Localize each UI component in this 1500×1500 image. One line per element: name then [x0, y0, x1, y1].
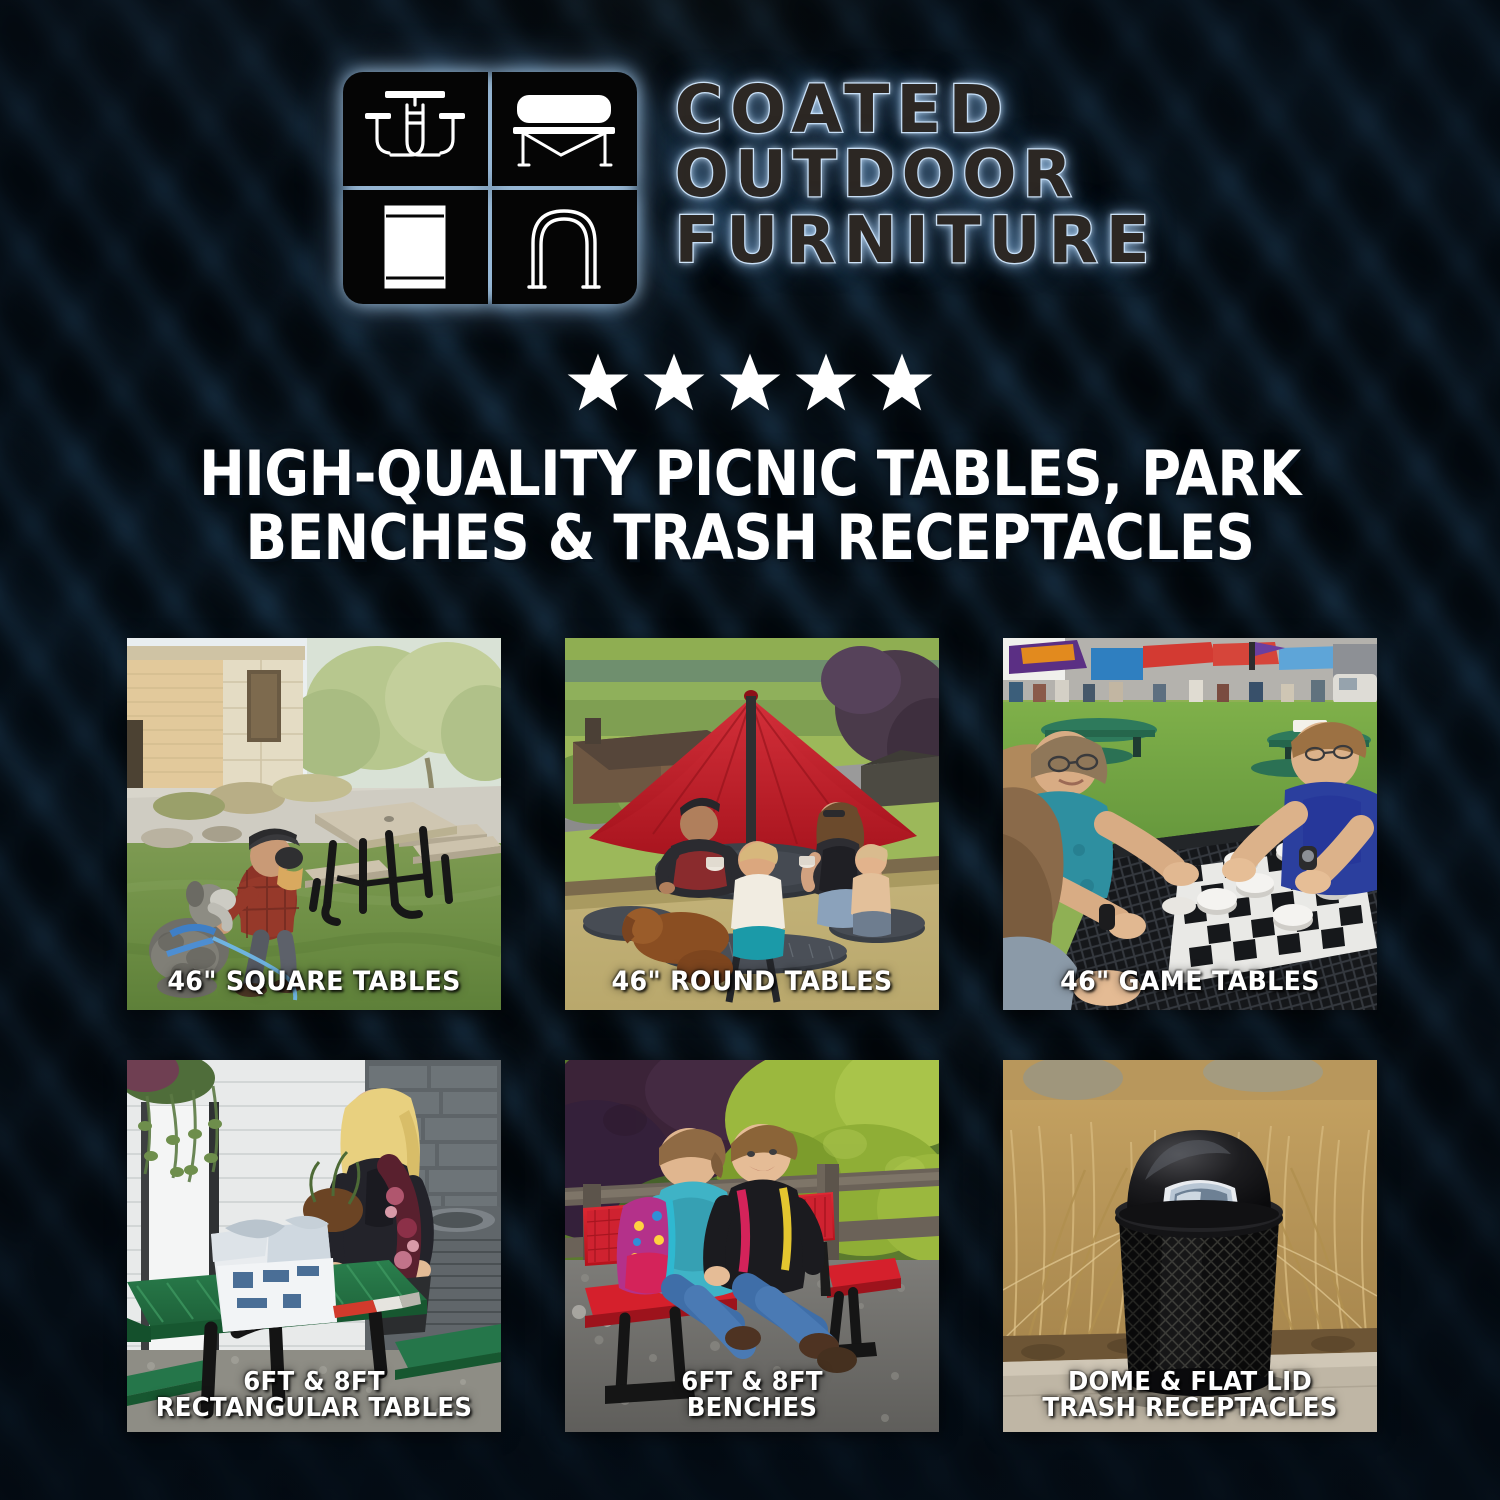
star-rating	[0, 352, 1500, 412]
caption-line: 46" GAME TABLES	[1022, 968, 1359, 996]
caption-line: TRASH RECEPTACLES	[1022, 1395, 1359, 1422]
trash-receptacle-icon	[343, 190, 488, 304]
caption-line: 46" SQUARE TABLES	[146, 968, 483, 996]
caption-line: 6FT & 8FT	[584, 1369, 921, 1396]
product-caption-round-tables: 46" ROUND TABLES	[584, 968, 921, 996]
bike-rack-icon	[492, 190, 637, 304]
star-icon	[643, 352, 705, 412]
product-photo-round-tables	[565, 638, 939, 1010]
brand-logo: COATED OUTDOOR FURNITURE	[0, 72, 1500, 304]
product-card-trash-receptacles[interactable]: DOME & FLAT LID TRASH RECEPTACLES	[1003, 1060, 1377, 1432]
star-icon	[795, 352, 857, 412]
caption-line: DOME & FLAT LID	[1022, 1369, 1359, 1396]
product-caption-trash-receptacles: DOME & FLAT LID TRASH RECEPTACLES	[1022, 1369, 1359, 1422]
product-caption-square-tables: 46" SQUARE TABLES	[146, 968, 483, 996]
caption-line: RECTANGULAR TABLES	[146, 1395, 483, 1422]
product-caption-rectangular-tables: 6FT & 8FT RECTANGULAR TABLES	[146, 1369, 483, 1422]
brand-word-coated: COATED	[675, 78, 1158, 141]
product-photo-square-tables	[127, 638, 501, 1010]
product-card-round-tables[interactable]: 46" ROUND TABLES	[565, 638, 939, 1010]
product-grid: 46" SQUARE TABLES	[127, 638, 1373, 1432]
headline-line-2: BENCHES & TRASH RECEPTACLES	[152, 506, 1349, 570]
product-card-benches[interactable]: 6FT & 8FT BENCHES	[565, 1060, 939, 1432]
picnic-table-front-icon	[343, 72, 488, 186]
headline-line-1: HIGH-QUALITY PICNIC TABLES, PARK	[152, 442, 1349, 506]
page-title: HIGH-QUALITY PICNIC TABLES, PARK BENCHES…	[152, 442, 1349, 570]
caption-line: 6FT & 8FT	[146, 1369, 483, 1396]
caption-line: 46" ROUND TABLES	[584, 968, 921, 996]
product-card-square-tables[interactable]: 46" SQUARE TABLES	[127, 638, 501, 1010]
product-caption-benches: 6FT & 8FT BENCHES	[584, 1369, 921, 1422]
bench-side-icon	[492, 72, 637, 186]
product-card-rectangular-tables[interactable]: 6FT & 8FT RECTANGULAR TABLES	[127, 1060, 501, 1432]
brand-word-furniture: FURNITURE	[675, 211, 1158, 272]
promo-page: COATED OUTDOOR FURNITURE HIGH-QUALITY PI…	[0, 0, 1500, 1500]
star-icon	[719, 352, 781, 412]
star-icon	[871, 352, 933, 412]
product-card-game-tables[interactable]: 46" GAME TABLES	[1003, 638, 1377, 1010]
brand-wordmark: COATED OUTDOOR FURNITURE	[675, 72, 1158, 272]
product-photo-game-tables	[1003, 638, 1377, 1010]
logo-icon-grid	[343, 72, 637, 304]
brand-word-outdoor: OUTDOOR	[675, 145, 1158, 206]
product-caption-game-tables: 46" GAME TABLES	[1022, 968, 1359, 996]
caption-line: BENCHES	[584, 1395, 921, 1422]
star-icon	[567, 352, 629, 412]
